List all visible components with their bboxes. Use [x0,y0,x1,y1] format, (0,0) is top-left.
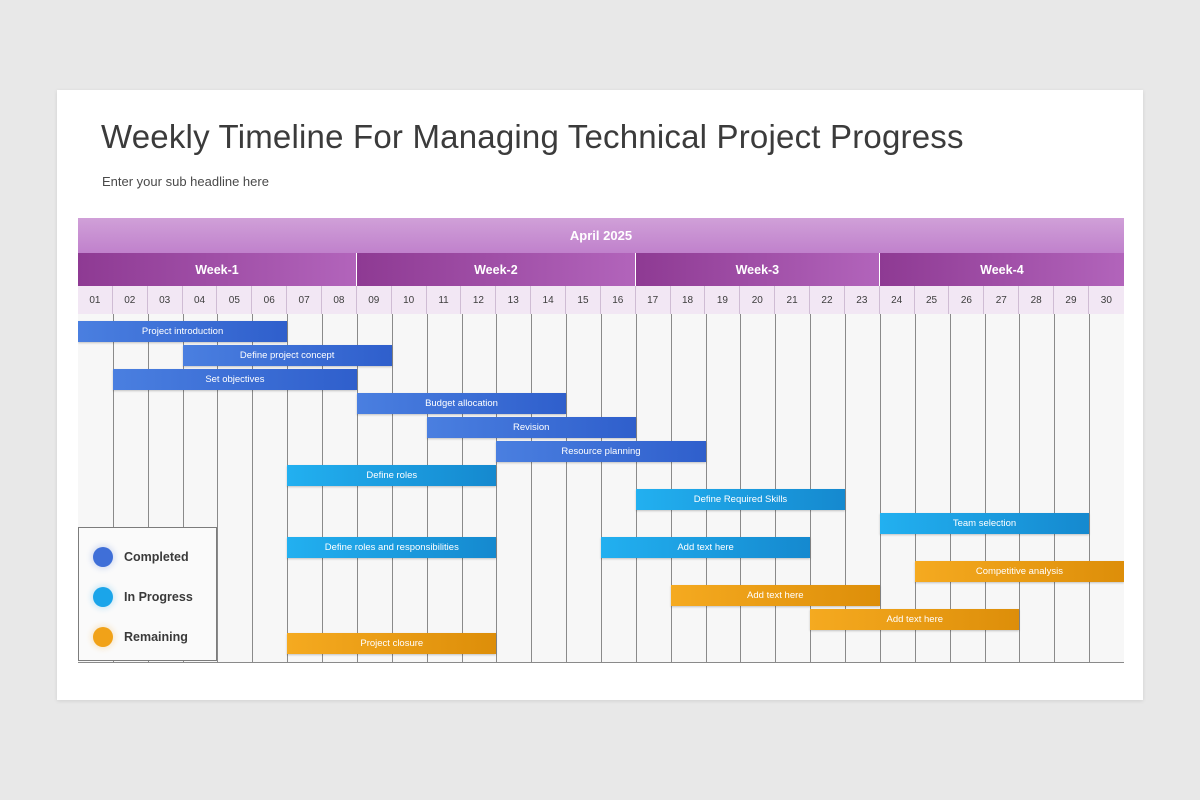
gantt-bar-label: Competitive analysis [976,566,1063,577]
gantt-bar[interactable]: Define roles and responsibilities [287,537,496,558]
gantt-bar[interactable]: Add text here [601,537,810,558]
legend-label: Completed [124,550,189,564]
gantt-bar[interactable]: Resource planning [496,441,705,462]
gridline [252,314,253,662]
day-header-cell: 30 [1089,286,1124,314]
month-label: April 2025 [570,228,632,243]
day-header-cell: 25 [915,286,950,314]
gantt-day-header-row: 0102030405060708091011121314151617181920… [78,286,1124,315]
week-label: Week-1 [195,263,239,277]
gantt-bar[interactable]: Define project concept [183,345,392,366]
gantt-chart: April 2025 Week-1Week-2Week-3Week-4 0102… [78,218,1124,662]
gantt-bar[interactable]: Define roles [287,465,496,486]
day-header-cell: 20 [740,286,775,314]
day-header-cell: 22 [810,286,845,314]
day-label: 18 [682,295,693,306]
day-label: 22 [821,295,832,306]
day-header-cell: 16 [601,286,636,314]
gridline [217,314,218,662]
day-header-cell: 17 [636,286,671,314]
day-header-cell: 05 [217,286,252,314]
day-label: 12 [473,295,484,306]
day-label: 28 [1031,295,1042,306]
day-header-cell: 27 [984,286,1019,314]
gridline [671,314,672,662]
day-label: 11 [438,295,448,306]
slide-canvas: Weekly Timeline For Managing Technical P… [57,90,1143,700]
gridline [740,314,741,662]
day-header-cell: 23 [845,286,880,314]
gantt-bar[interactable]: Team selection [880,513,1089,534]
gridline [531,314,532,662]
gantt-bar[interactable]: Project closure [287,633,496,654]
gantt-bar-label: Budget allocation [425,398,498,409]
day-label: 24 [891,295,902,306]
gantt-bar[interactable]: Set objectives [113,369,357,390]
day-label: 15 [577,295,588,306]
gridline [706,314,707,662]
gantt-bar[interactable]: Competitive analysis [915,561,1124,582]
week-header-cell: Week-4 [880,253,1124,286]
gridline [636,314,637,662]
week-header-cell: Week-2 [357,253,636,286]
day-label: 23 [856,295,867,306]
day-header-cell: 28 [1019,286,1054,314]
gantt-bar-label: Define project concept [240,350,335,361]
legend-label: In Progress [124,590,193,604]
day-label: 01 [89,295,100,306]
gantt-bar-label: Add text here [677,542,734,553]
gridline [1054,314,1055,662]
day-label: 26 [961,295,972,306]
legend-label: Remaining [124,630,188,644]
chart-legend: CompletedIn ProgressRemaining [78,527,217,661]
day-label: 20 [752,295,763,306]
day-label: 09 [368,295,379,306]
gantt-bar-label: Define Required Skills [694,494,787,505]
day-header-cell: 21 [775,286,810,314]
day-header-cell: 13 [496,286,531,314]
day-label: 06 [264,295,275,306]
gridline [775,314,776,662]
gridline [427,314,428,662]
week-header-cell: Week-1 [78,253,357,286]
week-label: Week-4 [980,263,1024,277]
day-header-cell: 24 [880,286,915,314]
gantt-month-header: April 2025 [78,218,1124,253]
day-header-cell: 14 [531,286,566,314]
gantt-bar-label: Add text here [887,614,944,625]
day-label: 29 [1065,295,1076,306]
day-label: 08 [333,295,344,306]
week-label: Week-3 [736,263,780,277]
gantt-week-header-row: Week-1Week-2Week-3Week-4 [78,253,1124,286]
day-header-cell: 10 [392,286,427,314]
gantt-bar[interactable]: Define Required Skills [636,489,845,510]
day-label: 04 [194,295,205,306]
gridline [392,314,393,662]
day-label: 17 [647,295,658,306]
day-header-cell: 11 [427,286,462,314]
day-label: 21 [787,295,798,306]
day-label: 03 [159,295,170,306]
day-label: 10 [403,295,414,306]
day-label: 25 [926,295,937,306]
gantt-plot-area: Project introductionDefine project conce… [78,314,1124,663]
legend-item-inprogress[interactable]: In Progress [93,587,193,607]
day-header-cell: 29 [1054,286,1089,314]
day-label: 13 [508,295,519,306]
day-header-cell: 03 [148,286,183,314]
gridline [357,314,358,662]
gantt-bar-label: Team selection [953,518,1016,529]
gridline [322,314,323,662]
day-label: 14 [543,295,554,306]
day-header-cell: 19 [705,286,740,314]
gantt-bar[interactable]: Project introduction [78,321,287,342]
gantt-bar-label: Set objectives [205,374,264,385]
gridline [462,314,463,662]
day-header-cell: 26 [949,286,984,314]
page-subtitle: Enter your sub headline here [102,174,269,189]
gridline [601,314,602,662]
legend-item-remaining[interactable]: Remaining [93,627,188,647]
gantt-bar[interactable]: Revision [427,417,636,438]
day-header-cell: 01 [78,286,113,314]
day-label: 05 [229,295,240,306]
gantt-bar-label: Project introduction [142,326,223,337]
day-header-cell: 18 [671,286,706,314]
day-header-cell: 07 [287,286,322,314]
legend-dot-icon [93,587,113,607]
week-label: Week-2 [474,263,518,277]
day-header-cell: 08 [322,286,357,314]
gridline [1089,314,1090,662]
legend-dot-icon [93,627,113,647]
gridline [566,314,567,662]
gantt-bar-label: Define roles and responsibilities [325,542,459,553]
gantt-bar-label: Project closure [360,638,423,649]
day-header-cell: 09 [357,286,392,314]
gridline [496,314,497,662]
day-label: 02 [124,295,135,306]
day-header-cell: 15 [566,286,601,314]
legend-dot-icon [93,547,113,567]
gantt-bar-label: Revision [513,422,549,433]
day-header-cell: 06 [252,286,287,314]
day-label: 16 [612,295,623,306]
gantt-bar[interactable]: Add text here [671,585,880,606]
gantt-bar[interactable]: Add text here [810,609,1019,630]
day-label: 19 [717,295,728,306]
day-label: 30 [1101,295,1112,306]
week-header-cell: Week-3 [636,253,880,286]
gantt-bar-label: Resource planning [561,446,640,457]
gantt-bar-label: Define roles [366,470,417,481]
gantt-bar[interactable]: Budget allocation [357,393,566,414]
day-header-cell: 02 [113,286,148,314]
day-header-cell: 12 [461,286,496,314]
day-header-cell: 04 [183,286,218,314]
day-label: 27 [996,295,1007,306]
gantt-bar-label: Add text here [747,590,804,601]
legend-item-completed[interactable]: Completed [93,547,189,567]
day-label: 07 [299,295,310,306]
page-title: Weekly Timeline For Managing Technical P… [101,118,964,156]
gridline [287,314,288,662]
